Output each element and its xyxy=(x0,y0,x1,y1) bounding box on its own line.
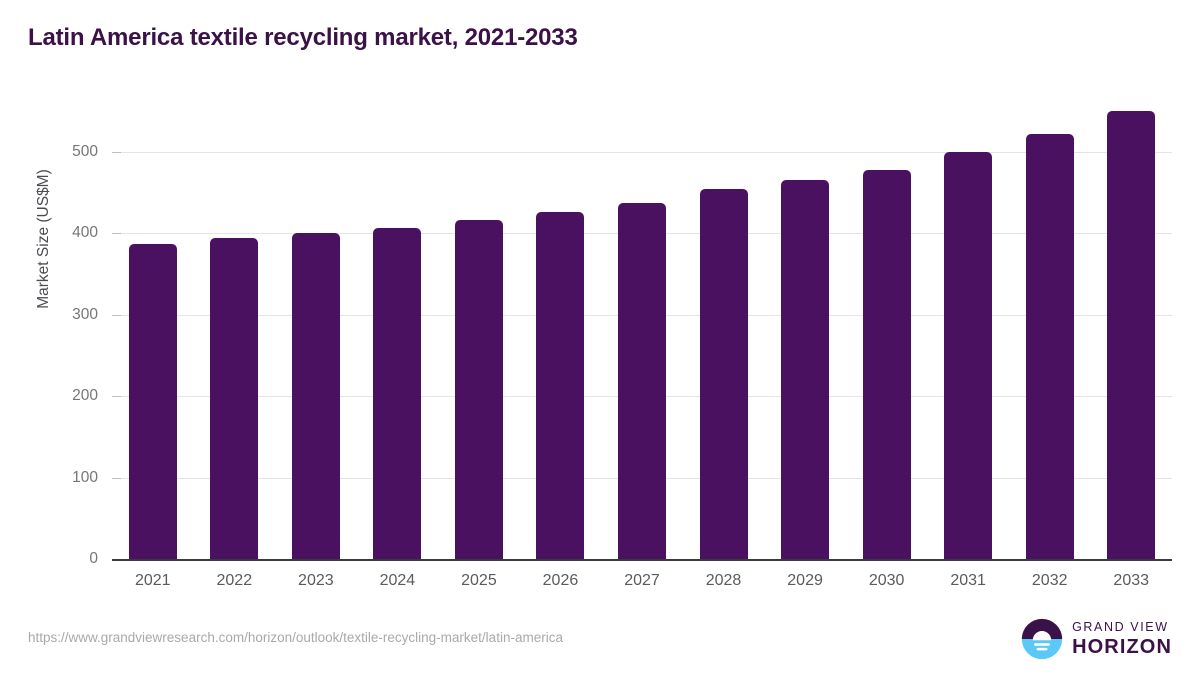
bar-2021[interactable] xyxy=(129,244,177,559)
logo-wordmark: GRAND VIEW HORIZON xyxy=(1072,621,1172,657)
y-axis-tick-label: 500 xyxy=(0,143,98,161)
y-axis-tick-label: 200 xyxy=(0,387,98,405)
grand-view-horizon-logo: GRAND VIEW HORIZON xyxy=(1021,617,1172,661)
y-axis-tick-label: 0 xyxy=(0,550,98,568)
axis-baseline xyxy=(112,559,1172,561)
y-axis-tick-label: 300 xyxy=(0,306,98,324)
x-axis-label-2022: 2022 xyxy=(194,572,274,590)
x-axis-label-2033: 2033 xyxy=(1091,572,1171,590)
logo-text-top: GRAND VIEW xyxy=(1072,621,1172,634)
bar-2029[interactable] xyxy=(781,180,829,559)
x-axis-label-2023: 2023 xyxy=(276,572,356,590)
y-axis-tick xyxy=(112,478,121,479)
y-axis-tick-labels: 0100200300400500 xyxy=(0,95,98,560)
bar-2030[interactable] xyxy=(863,170,911,559)
bar-2033[interactable] xyxy=(1107,111,1155,560)
bar-2023[interactable] xyxy=(292,233,340,559)
y-axis-tick-label: 400 xyxy=(0,224,98,242)
x-axis-tick-labels: 2021202220232024202520262027202820292030… xyxy=(112,566,1172,598)
y-axis-tick xyxy=(112,396,121,397)
x-axis-label-2027: 2027 xyxy=(602,572,682,590)
bar-2022[interactable] xyxy=(210,238,258,559)
gridline xyxy=(120,152,1172,153)
x-axis-label-2029: 2029 xyxy=(765,572,845,590)
x-axis-label-2021: 2021 xyxy=(113,572,193,590)
bar-2026[interactable] xyxy=(536,212,584,559)
bar-2032[interactable] xyxy=(1026,134,1074,559)
y-axis-tick-label: 100 xyxy=(0,469,98,487)
x-axis-label-2026: 2026 xyxy=(520,572,600,590)
logo-text-bottom: HORIZON xyxy=(1072,637,1172,657)
x-axis-label-2031: 2031 xyxy=(928,572,1008,590)
bar-2031[interactable] xyxy=(944,152,992,559)
x-axis-label-2025: 2025 xyxy=(439,572,519,590)
x-axis-label-2030: 2030 xyxy=(847,572,927,590)
bar-2024[interactable] xyxy=(373,228,421,559)
bar-2028[interactable] xyxy=(700,189,748,559)
bar-2025[interactable] xyxy=(455,220,503,559)
x-axis-label-2032: 2032 xyxy=(1010,572,1090,590)
page-title: Latin America textile recycling market, … xyxy=(28,24,578,52)
y-axis-tick xyxy=(112,152,121,153)
x-axis-label-2028: 2028 xyxy=(684,572,764,590)
y-axis-tick xyxy=(112,315,121,316)
bar-2027[interactable] xyxy=(618,203,666,559)
source-url[interactable]: https://www.grandviewresearch.com/horizo… xyxy=(28,630,563,645)
horizon-circle-icon xyxy=(1021,618,1063,660)
x-axis-label-2024: 2024 xyxy=(357,572,437,590)
chart-canvas: Latin America textile recycling market, … xyxy=(0,0,1200,675)
plot-area xyxy=(112,95,1172,560)
y-axis-tick xyxy=(112,233,121,234)
